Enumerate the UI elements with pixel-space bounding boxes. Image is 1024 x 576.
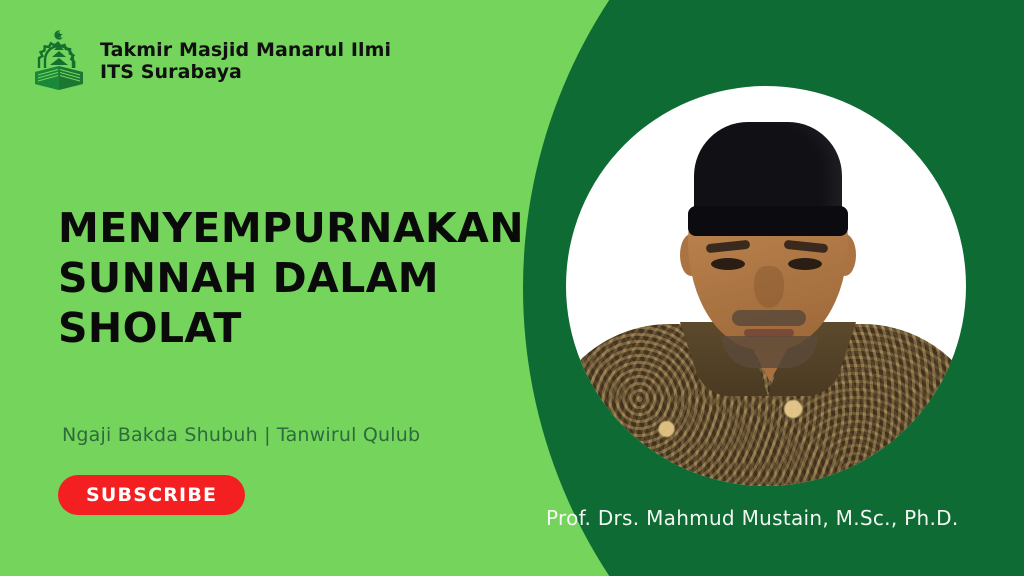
headline-line-2: SUNNAH DALAM: [58, 253, 528, 303]
portrait-nose: [754, 266, 784, 308]
slide-headline: MENYEMPURNAKAN SUNNAH DALAM SHOLAT: [58, 203, 528, 353]
portrait-eye-right: [788, 258, 822, 270]
slide-subtitle: Ngaji Bakda Shubuh | Tanwirul Qulub: [62, 424, 420, 446]
brand-name-line1: Takmir Masjid Manarul Ilmi: [100, 39, 391, 61]
portrait-peci-brim: [688, 206, 848, 236]
speaker-name: Prof. Drs. Mahmud Mustain, M.Sc., Ph.D.: [546, 506, 959, 530]
brand-lockup: Takmir Masjid Manarul Ilmi ITS Surabaya: [30, 28, 391, 94]
presentation-slide: Takmir Masjid Manarul Ilmi ITS Surabaya …: [0, 0, 1024, 576]
portrait-white-disc: [566, 86, 966, 486]
subscribe-button[interactable]: SUBSCRIBE: [58, 475, 245, 515]
headline-line-3: SHOLAT: [58, 303, 528, 353]
mosque-book-gear-logo-icon: [30, 28, 88, 94]
brand-name: Takmir Masjid Manarul Ilmi ITS Surabaya: [100, 39, 391, 84]
portrait-mustache: [732, 310, 806, 326]
headline-line-1: MENYEMPURNAKAN: [58, 203, 528, 253]
portrait-eye-left: [711, 258, 745, 270]
speaker-portrait-photo: [566, 86, 966, 486]
brand-name-line2: ITS Surabaya: [100, 61, 391, 83]
